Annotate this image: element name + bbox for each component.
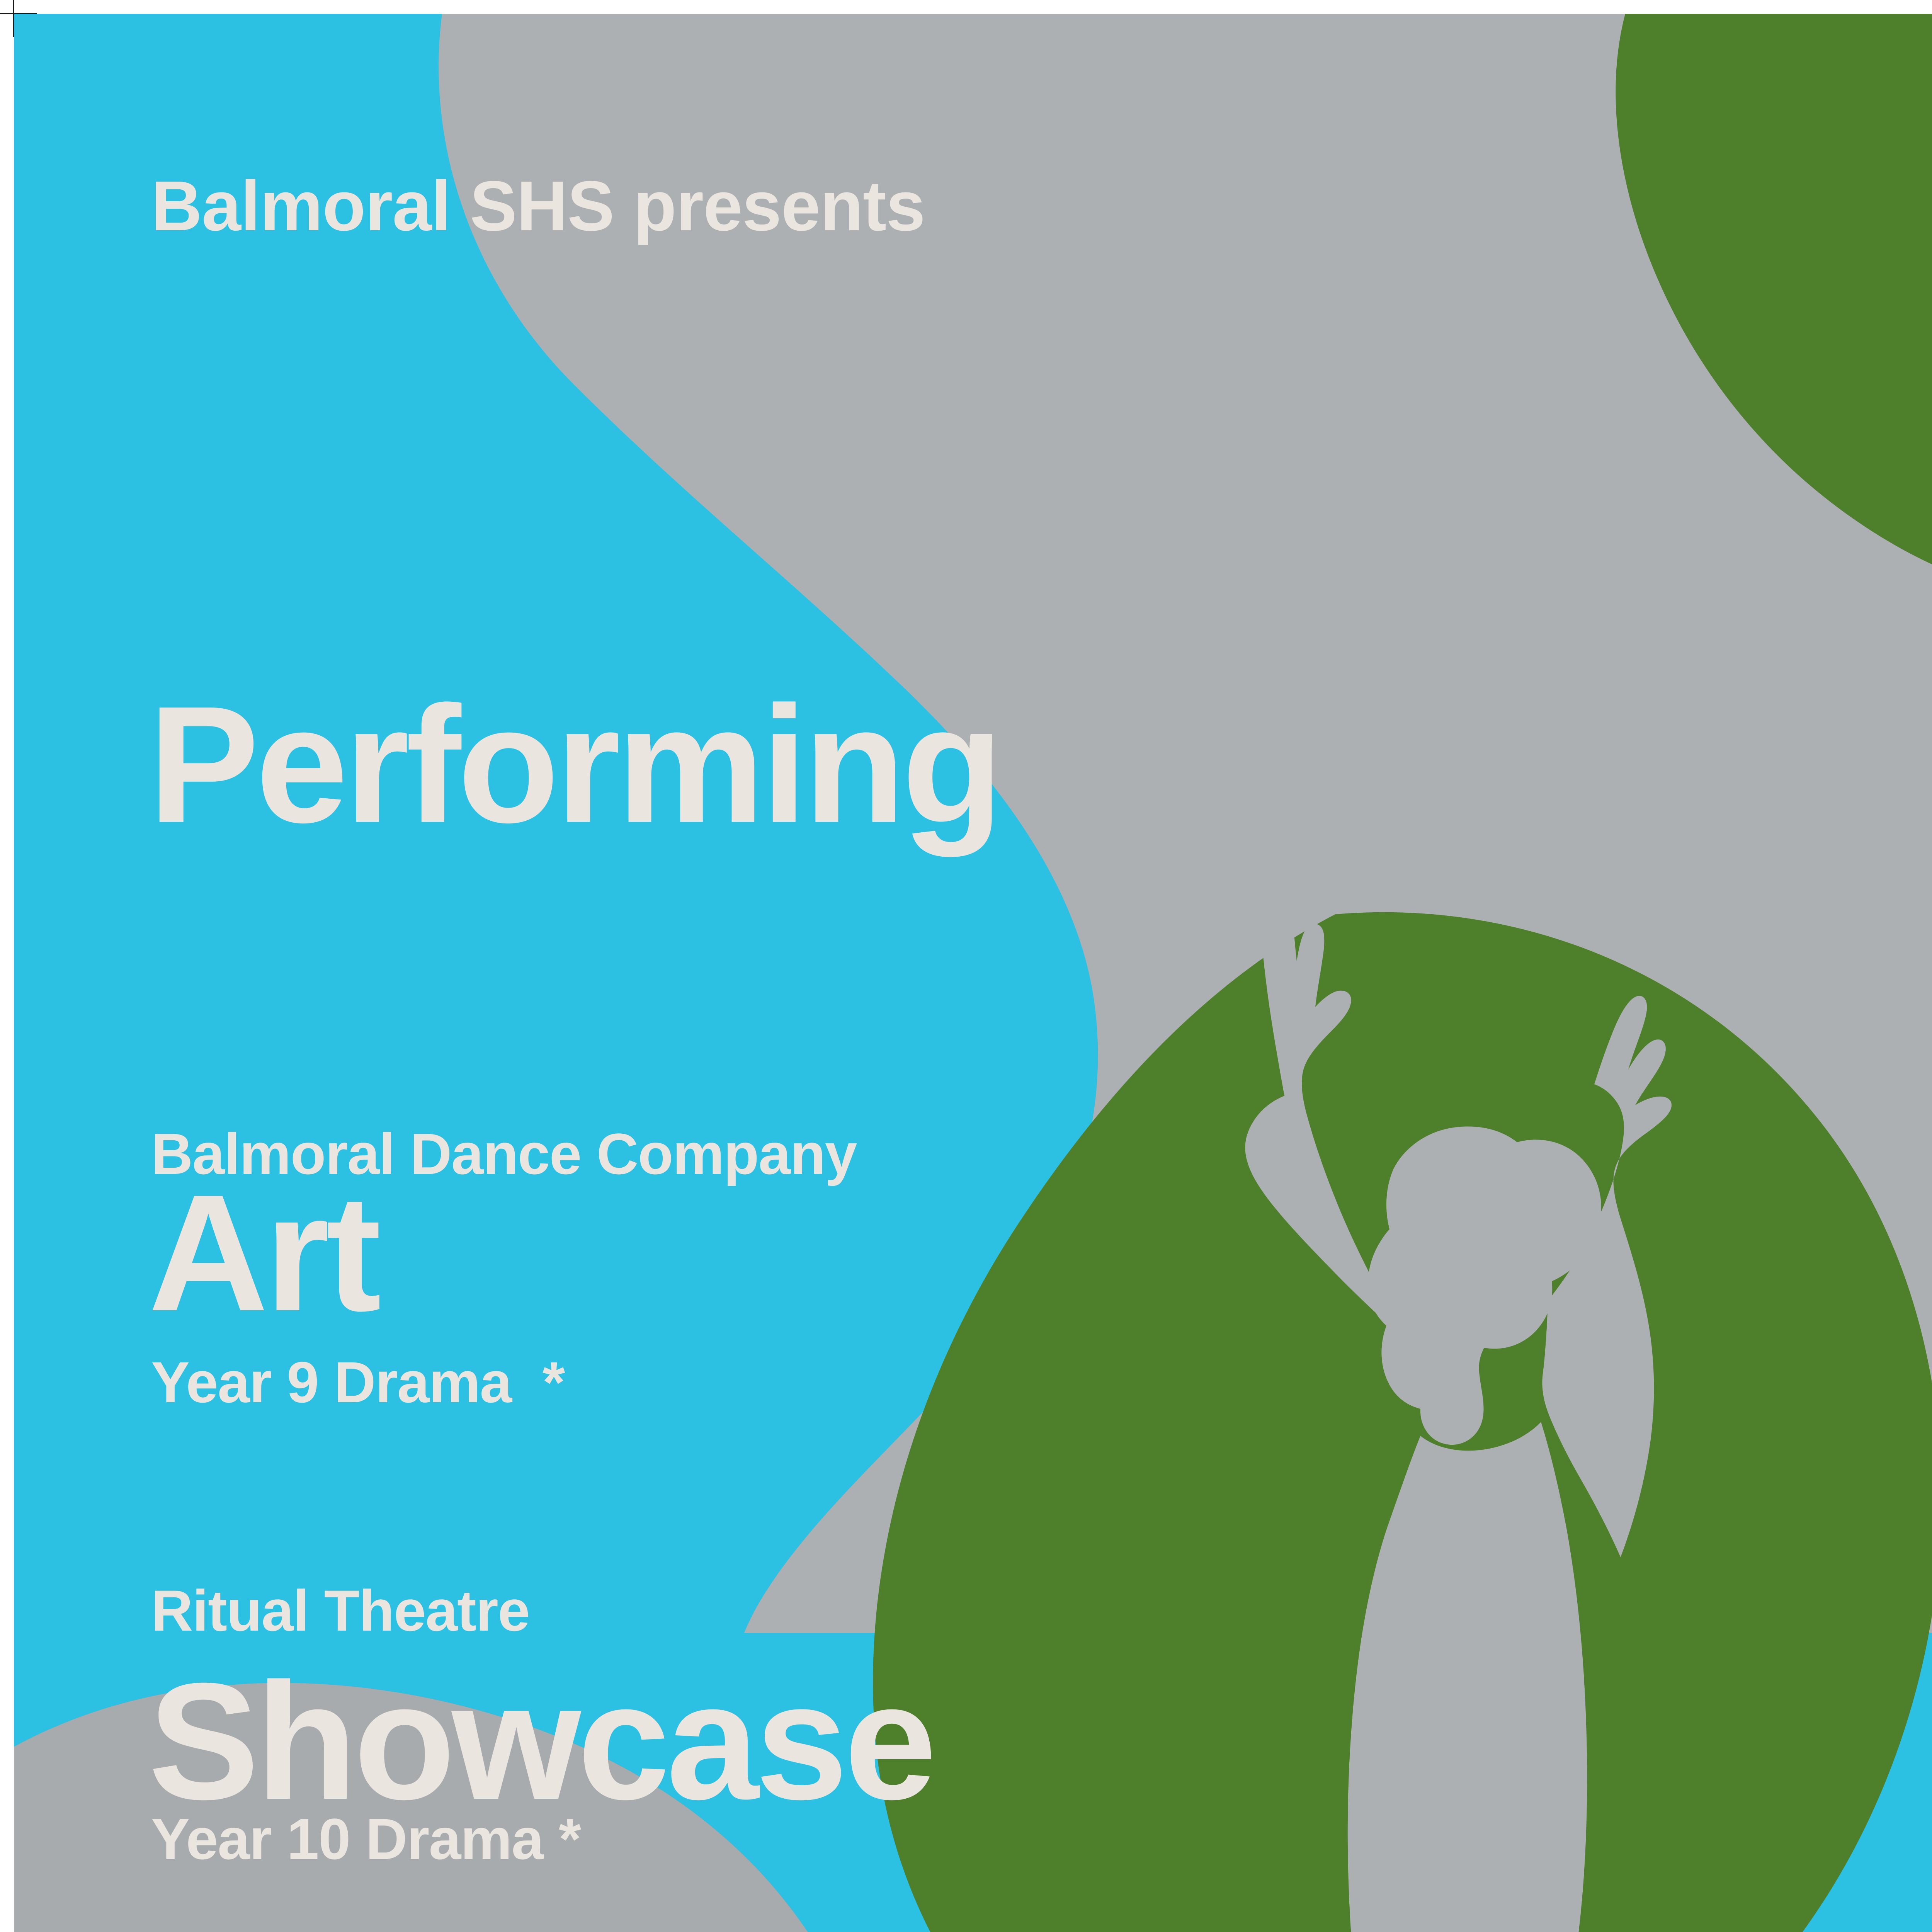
title-line-1: Performing	[148, 684, 1000, 846]
program-item: Year 9 Drama *	[151, 1353, 857, 1411]
program-item: Balmoral Dance Company	[151, 1125, 857, 1183]
booking-instructions: Book free tickets through trybooking, sc…	[163, 1886, 498, 1932]
program-list: Balmoral Dance Company Year 9 Drama * Ri…	[151, 1009, 857, 1932]
poster-canvas: Balmoral SHS presents Performing Art Sho…	[0, 0, 1932, 1932]
program-item: Year 10 Drama *	[151, 1810, 857, 1868]
program-item: Ritual Theatre	[151, 1582, 857, 1639]
poster-artwork: Balmoral SHS presents Performing Art Sho…	[14, 14, 1932, 1932]
presenter-line: Balmoral SHS presents	[151, 170, 925, 241]
